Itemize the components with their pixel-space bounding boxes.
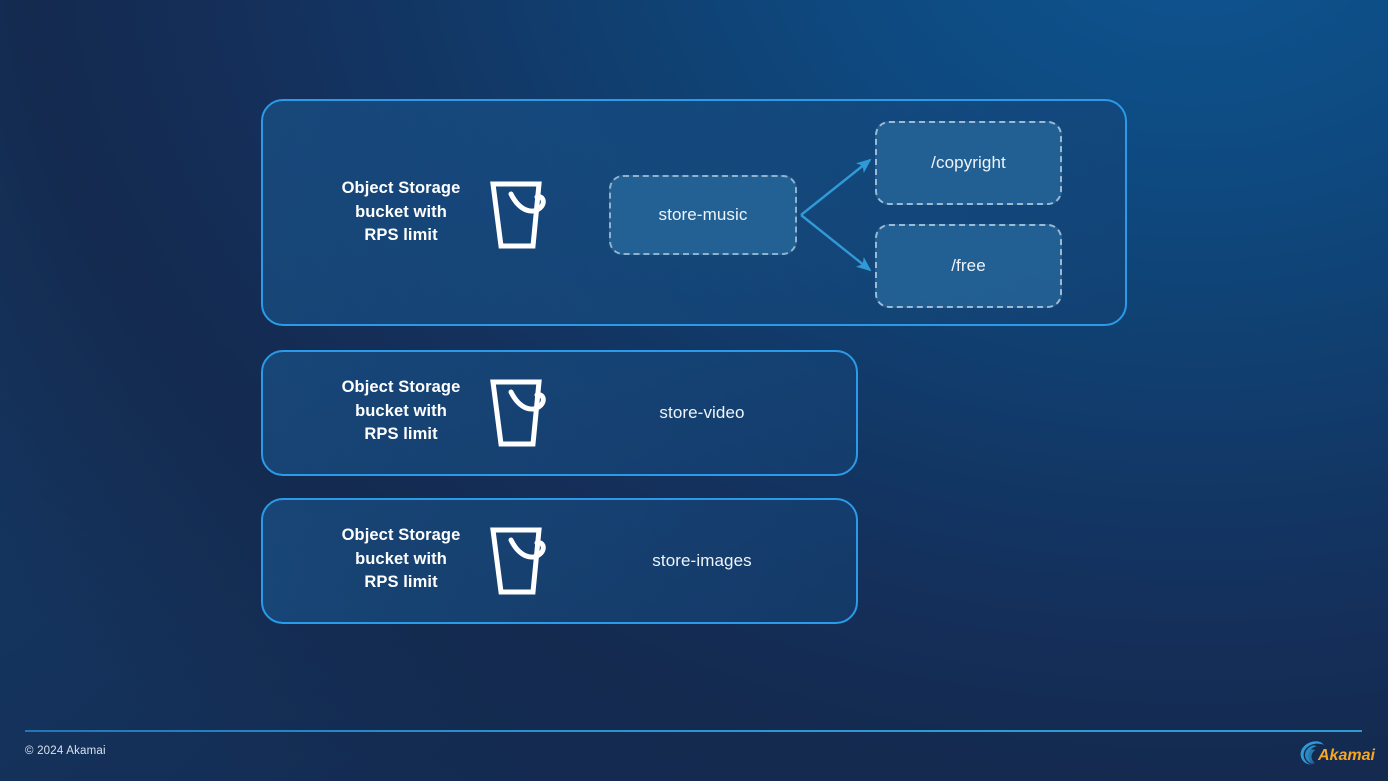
path-box-free[interactable]: /free [875,224,1062,308]
bucket-name-box-store-music[interactable]: store-music [609,175,797,255]
bucket-rps-label: Object Storage bucket with RPS limit [320,376,482,447]
bucket-rps-label: Object Storage bucket with RPS limit [320,177,482,248]
footer-divider [25,730,1362,732]
slide-canvas: Object Storage bucket with RPS limit sto… [0,0,1388,781]
bucket-name-label: store-video [572,403,832,423]
path-box-copyright[interactable]: /copyright [875,121,1062,205]
bucket-name-label: store-images [572,551,832,571]
bucket-icon [489,524,553,598]
bucket-name-label: store-music [659,205,748,225]
bucket-icon [489,376,553,450]
path-label: /copyright [931,153,1006,173]
path-label: /free [951,256,986,276]
footer-copyright: © 2024 Akamai [25,745,106,757]
akamai-wordmark: Akamai [1317,747,1375,764]
akamai-logo: Akamai [1296,738,1376,768]
bucket-icon [489,178,553,252]
bucket-rps-label: Object Storage bucket with RPS limit [320,524,482,595]
